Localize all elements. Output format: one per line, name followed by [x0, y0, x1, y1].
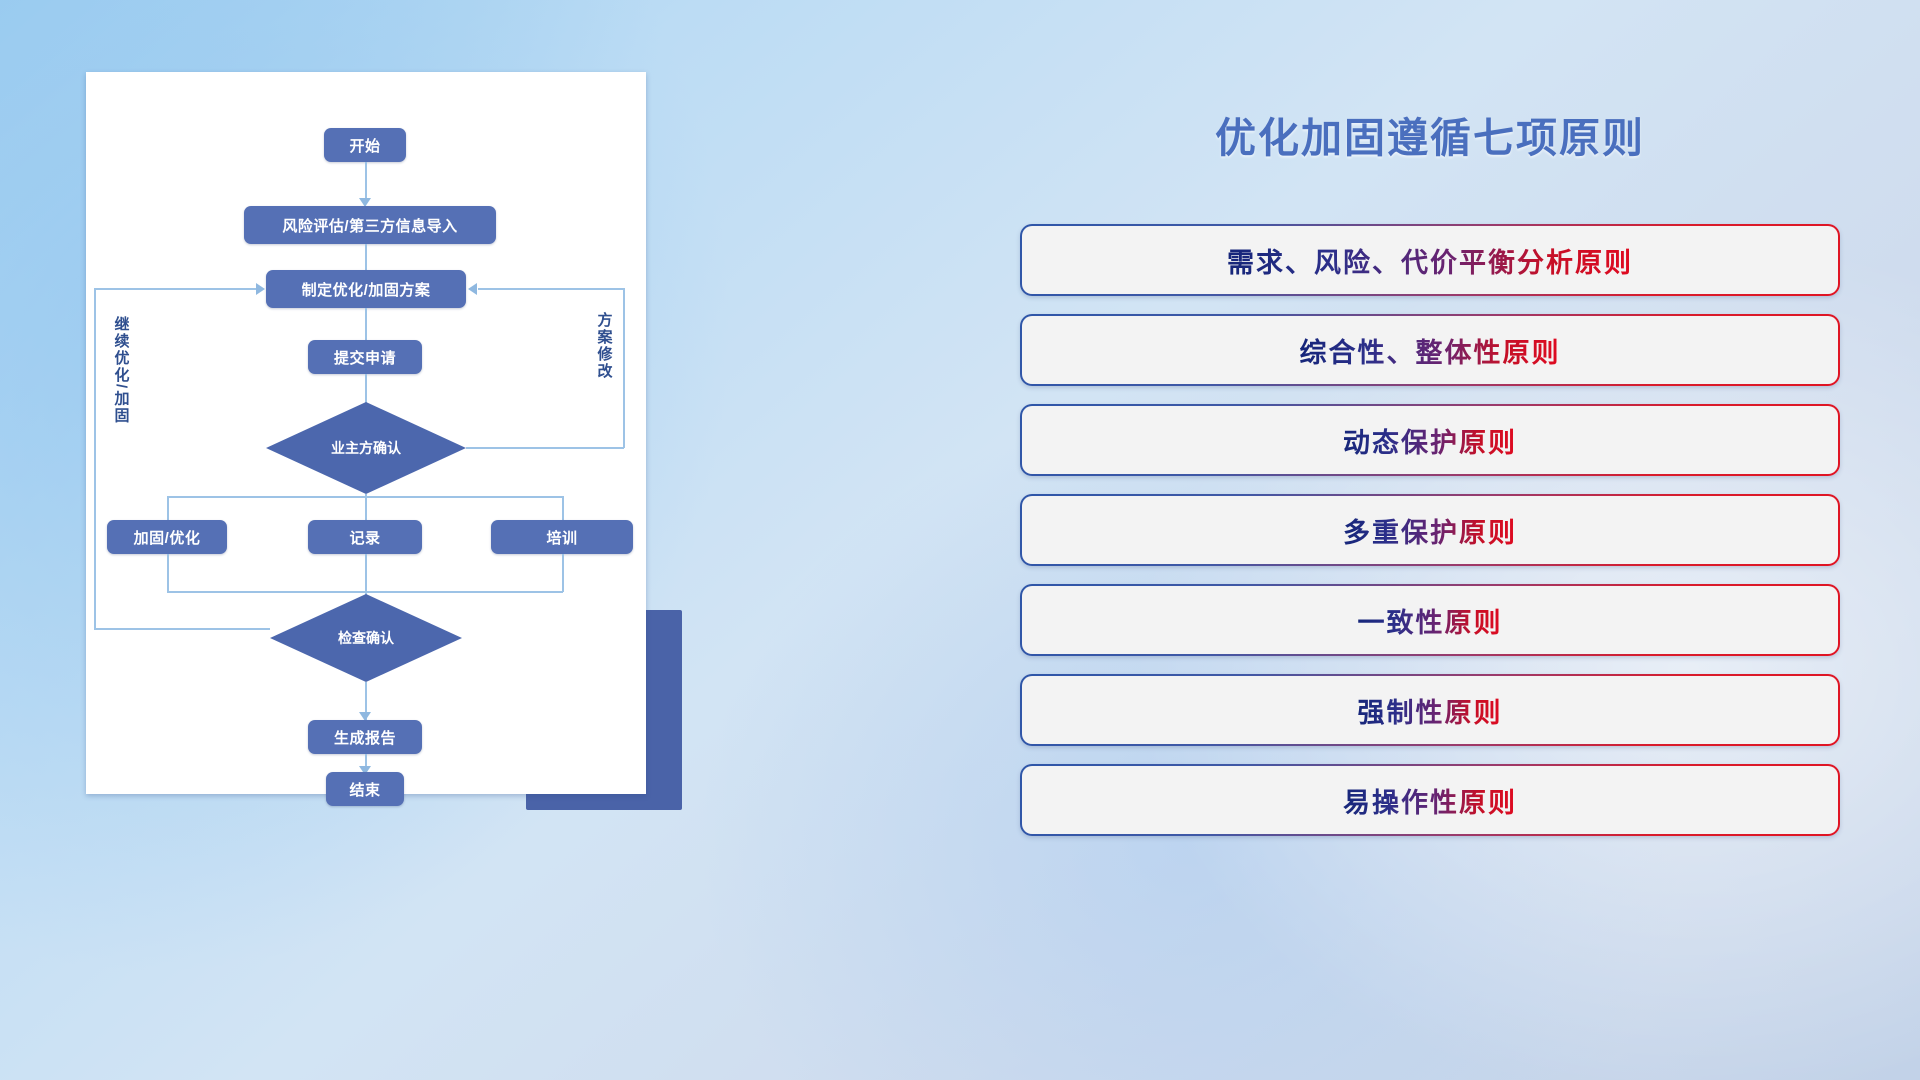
principle-card-inner: 强制性原则 — [1022, 676, 1838, 744]
flow-node-make-plan[interactable]: 制定优化/加固方案 — [266, 270, 466, 308]
flowchart-card: 开始 风险评估/第三方信息导入 制定优化/加固方案 提交申请 业主方确认 — [86, 72, 646, 794]
principle-card-inner: 动态保护原则 — [1022, 406, 1838, 474]
principle-card-label: 易操作性原则 — [1343, 781, 1517, 820]
flow-node-training[interactable]: 培训 — [491, 520, 633, 554]
flow-node-generate-report[interactable]: 生成报告 — [308, 720, 422, 754]
flow-node-risk-assessment[interactable]: 风险评估/第三方信息导入 — [244, 206, 496, 244]
principle-card[interactable]: 一致性原则 — [1020, 584, 1840, 656]
loop-left-label: 继续优化/加固 — [112, 316, 129, 424]
flow-node-label: 开始 — [349, 135, 380, 156]
principle-card-list: 需求、风险、代价平衡分析原则 综合性、整体性原则 动态保护原则 多重保护原则 一… — [1020, 224, 1840, 854]
merge-rise-left — [167, 554, 169, 592]
flow-node-label: 提交申请 — [334, 347, 396, 368]
loop-right-label: 方案修改 — [595, 312, 612, 380]
flow-decision-owner-confirm[interactable]: 业主方确认 — [266, 402, 466, 494]
flow-node-label: 业主方确认 — [331, 438, 401, 458]
merge-rise-mid — [365, 554, 367, 592]
principle-card-label: 一致性原则 — [1358, 601, 1503, 640]
flow-node-label: 培训 — [546, 527, 577, 548]
loop-left-top-segment — [94, 288, 258, 290]
flow-node-submit-application[interactable]: 提交申请 — [308, 340, 422, 374]
loop-left-bottom-segment — [94, 628, 270, 630]
flow-node-start[interactable]: 开始 — [324, 128, 406, 162]
flow-decision-inspection-confirm[interactable]: 检查确认 — [270, 594, 462, 682]
principle-card-label: 综合性、整体性原则 — [1300, 331, 1561, 370]
principle-card-label: 多重保护原则 — [1343, 511, 1517, 550]
flow-node-label: 风险评估/第三方信息导入 — [282, 215, 457, 236]
principle-card-inner: 综合性、整体性原则 — [1022, 316, 1838, 384]
loop-right-vertical-segment — [623, 288, 625, 448]
principle-card[interactable]: 动态保护原则 — [1020, 404, 1840, 476]
merge-rise-right — [562, 554, 564, 592]
arrow-left-icon — [468, 283, 477, 295]
principle-card-inner: 易操作性原则 — [1022, 766, 1838, 834]
principle-card[interactable]: 需求、风险、代价平衡分析原则 — [1020, 224, 1840, 296]
flow-node-label: 结束 — [349, 779, 380, 800]
flow-node-label: 制定优化/加固方案 — [302, 279, 431, 300]
loop-right-top-segment — [478, 288, 624, 290]
principles-panel: 优化加固遵循七项原则 需求、风险、代价平衡分析原则 综合性、整体性原则 动态保护… — [1020, 78, 1840, 1008]
flow-node-label: 检查确认 — [338, 628, 394, 648]
principle-card-inner: 需求、风险、代价平衡分析原则 — [1022, 226, 1838, 294]
flow-node-reinforce-optimize[interactable]: 加固/优化 — [107, 520, 227, 554]
principle-card-inner: 一致性原则 — [1022, 586, 1838, 654]
flow-node-end[interactable]: 结束 — [326, 772, 404, 806]
flowchart-container: 开始 风险评估/第三方信息导入 制定优化/加固方案 提交申请 业主方确认 — [86, 72, 662, 802]
flow-node-label: 生成报告 — [334, 727, 396, 748]
flow-node-label: 记录 — [349, 527, 380, 548]
loop-left-vertical-segment — [94, 288, 96, 630]
arrow-right-icon — [256, 283, 265, 295]
principle-card[interactable]: 强制性原则 — [1020, 674, 1840, 746]
principle-card[interactable]: 综合性、整体性原则 — [1020, 314, 1840, 386]
principle-card-label: 强制性原则 — [1358, 691, 1503, 730]
principle-card-inner: 多重保护原则 — [1022, 496, 1838, 564]
principle-card-label: 动态保护原则 — [1343, 421, 1517, 460]
panel-title: 优化加固遵循七项原则 — [1020, 104, 1840, 164]
flow-node-label: 加固/优化 — [134, 527, 201, 548]
loop-right-bottom-segment — [466, 447, 624, 449]
flow-node-record[interactable]: 记录 — [308, 520, 422, 554]
principle-card[interactable]: 多重保护原则 — [1020, 494, 1840, 566]
principle-card-label: 需求、风险、代价平衡分析原则 — [1227, 241, 1633, 280]
principle-card[interactable]: 易操作性原则 — [1020, 764, 1840, 836]
